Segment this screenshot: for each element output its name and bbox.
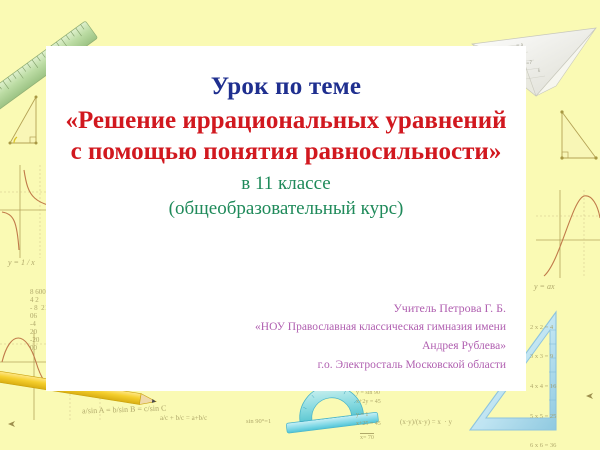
attribution-block: Учитель Петрова Г. Б. «НОУ Православная … xyxy=(146,299,506,374)
formula-power: (x·y)/(x·y) = x · y xyxy=(400,418,452,427)
page-title-line2: «Решение иррациональных уравнений xyxy=(46,106,526,136)
page-title-line3: с помощью понятия равносильности» xyxy=(46,137,526,167)
parabola-graph xyxy=(536,190,600,278)
multiplication-table: 2 x 2 = 4 3 x 3 = 9 4 x 4 = 16 5 x 5 = 2… xyxy=(530,303,556,450)
formula-hyperbola: y = 1 / x xyxy=(8,258,35,268)
mult-row: 6 x 6 = 36 xyxy=(530,441,556,450)
system-equation-3: y = 1 xyxy=(356,412,368,420)
triangle-diagram-right xyxy=(560,110,597,159)
attribution-school-line1: «НОУ Православная классическая гимназия … xyxy=(146,318,506,337)
system-equation-5: x= 70 xyxy=(360,433,374,443)
attribution-location: г.о. Электросталь Московской области xyxy=(146,356,506,375)
mult-row: 3 x 3 = 9 xyxy=(530,352,556,362)
mult-row: 2 x 2 = 4 xyxy=(530,323,556,333)
title-block: Урок по теме «Решение иррациональных ура… xyxy=(46,72,526,221)
page-title-line1: Урок по теме xyxy=(46,72,526,102)
svg-text:=7: =7 xyxy=(526,60,532,65)
page-subtitle-course: (общеобразовательный курс) xyxy=(46,198,526,221)
system-equation-1: y = sin 90 xyxy=(356,390,380,398)
mult-row: 4 x 4 = 16 xyxy=(530,382,556,392)
presentation-slide: x²+y= a a+bn² √x=7 2abk xyxy=(0,0,600,450)
formula-fraction-sum: a/c + b/c = a+b/c xyxy=(160,414,207,423)
attribution-school-line2: Андрея Рублева» xyxy=(146,337,506,356)
system-equation-2: x+2y = 45 xyxy=(356,399,381,407)
triangle-diagram-left xyxy=(9,96,38,145)
system-equation-4: x+25 = 45 xyxy=(356,421,381,429)
mult-row: 5 x 5 = 25 xyxy=(530,412,556,422)
content-panel: Урок по теме «Решение иррациональных ура… xyxy=(46,46,526,391)
attribution-teacher: Учитель Петрова Г. Б. xyxy=(146,299,506,318)
formula-parabola: y = ax xyxy=(534,282,555,292)
page-subtitle-grade: в 11 классе xyxy=(46,173,526,196)
formula-sin90: sin 90°=1 xyxy=(246,418,271,426)
